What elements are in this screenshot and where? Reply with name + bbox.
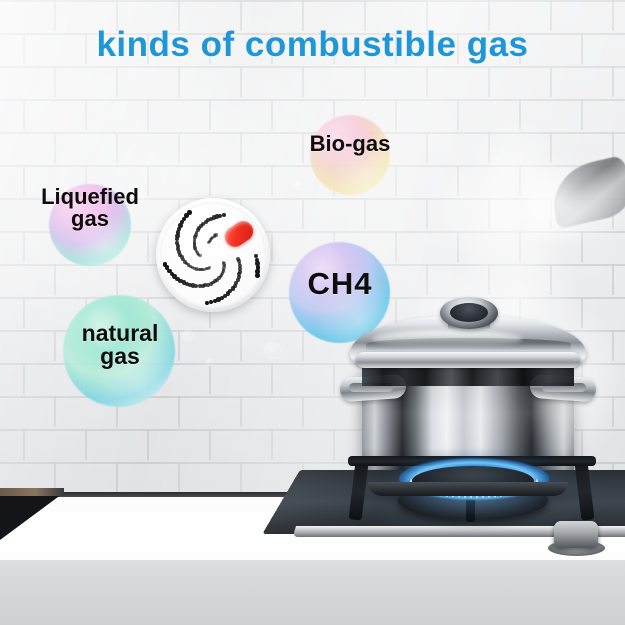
vent-dot [205, 301, 210, 306]
gas-label-biogas: Bio-gas [290, 133, 410, 155]
vent-dot [255, 273, 260, 278]
counter-left-trim [0, 488, 64, 496]
range-hood-steam-haze [525, 150, 625, 240]
ambient-bubble [294, 181, 303, 190]
vent-dot [163, 262, 168, 267]
vent-dot [213, 299, 218, 304]
page-title: kinds of combustible gas [0, 25, 625, 65]
vent-dot [222, 213, 226, 217]
pot-rim [356, 352, 580, 368]
ambient-bubble [206, 358, 214, 366]
gas-label-liquefied: Liquefied gas [8, 186, 172, 231]
pot-lid-knob-center [450, 303, 488, 322]
counter-front-panel [0, 560, 625, 625]
gas-label-ch4: CH4 [288, 268, 392, 300]
ambient-bubble [264, 342, 281, 359]
gas-leak-detector [156, 198, 270, 312]
vent-dot [187, 210, 192, 215]
vent-dot [198, 284, 202, 288]
cooktop-control-knob[interactable] [554, 521, 598, 548]
vent-dot [214, 233, 218, 237]
product-banner-image: kinds of combustible gas Liquefied gas n… [0, 0, 625, 625]
pot-base [368, 482, 568, 496]
counter-left-dark-wedge [0, 494, 62, 540]
detector-vent-dot-pattern [156, 198, 270, 312]
pot-lid-highlight [372, 330, 522, 348]
gas-label-natural: natural gas [48, 322, 192, 369]
vent-dot [209, 300, 214, 305]
